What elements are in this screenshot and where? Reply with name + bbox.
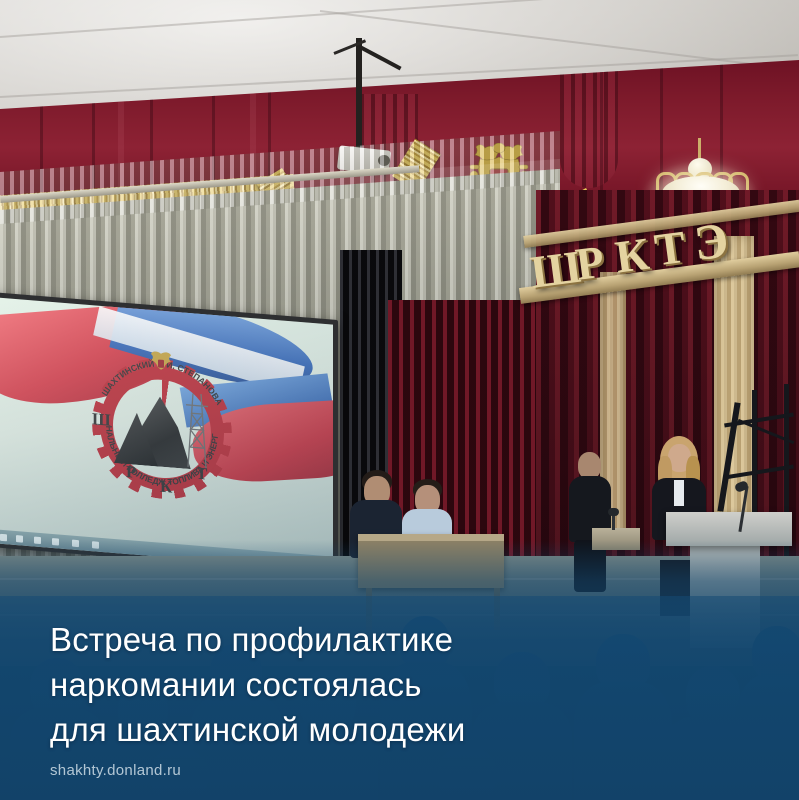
projection-screen: ШАХТИНСКИЙ Р. И. СТЕПАНОВА РЕГИОНАЛЬНЫЙ … [0,292,338,575]
headline-line-2: наркомании состоялась [50,662,750,707]
sign-letter-ka: К [612,231,651,281]
sign-letter-e: Э [691,216,731,266]
page-title: Встреча по профилактике наркомании состо… [50,617,750,752]
source-url[interactable]: shakhty.donland.ru [50,762,181,779]
sign-letter-er: Р [573,239,607,288]
headline-line-1: Встреча по профилактике [50,617,750,662]
screen-surface: ШАХТИНСКИЙ Р. И. СТЕПАНОВА РЕГИОНАЛЬНЫЙ … [0,297,333,570]
microphone-icon-2 [608,508,619,516]
news-card-image: Ш Р К Т Э [0,0,799,800]
screen-glare [0,297,333,570]
sign-letter-te: Т [652,224,688,274]
headline-line-3: для шахтинской молодежи [50,707,750,752]
projector-mount-pole [356,38,362,150]
